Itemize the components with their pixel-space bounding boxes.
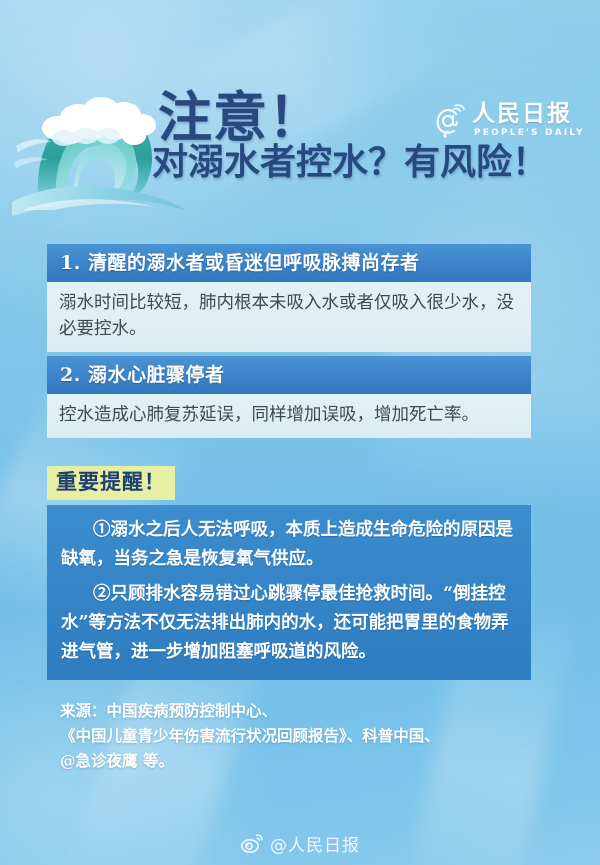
source-line-2: 《中国儿童青少年伤害流行状况回顾报告》、科普中国、 xyxy=(60,723,560,748)
page-title: 注意！ xyxy=(158,90,458,144)
important-reminder-label: 重要提醒！ xyxy=(47,466,175,500)
at-signal-icon xyxy=(432,104,466,138)
source-line-1: 来源：中国疾病预防控制中心、 xyxy=(60,698,560,723)
logo-name: 人民日报 xyxy=(472,100,572,128)
section-1-heading: 1. 清醒的溺水者或昏迷但呼吸脉搏尚存者 xyxy=(47,244,531,282)
source-attribution: 来源：中国疾病预防控制中心、 《中国儿童青少年伤害流行状况回顾报告》、科普中国、… xyxy=(60,698,560,773)
title-block: 注意！ xyxy=(158,90,458,144)
logo-english: PEOPLE'S DAILY xyxy=(474,128,585,138)
peoples-daily-logo: 人民日报 PEOPLE'S DAILY xyxy=(432,100,582,146)
content-section-2: 2. 溺水心脏骤停者 控水造成心肺复苏延误，同样增加误吸，增加死亡率。 xyxy=(47,356,531,438)
reminder-item-1: ①溺水之后人无法呼吸，本质上造成生命危险的原因是缺氧，当务之急是恢复氧气供应。 xyxy=(61,516,517,574)
footer-handle: @人民日报 xyxy=(270,831,360,856)
reminder-item-2: ②只顾排水容易错过心跳骤停最佳抢救时间。“倒挂控水”等方法不仅无法排出肺内的水，… xyxy=(61,580,517,667)
important-reminder-box: ①溺水之后人无法呼吸，本质上造成生命危险的原因是缺氧，当务之急是恢复氧气供应。 … xyxy=(47,505,531,680)
section-2-heading: 2. 溺水心脏骤停者 xyxy=(47,356,531,394)
content-section-1: 1. 清醒的溺水者或昏迷但呼吸脉搏尚存者 溺水时间比较短，肺内根本未吸入水或者仅… xyxy=(47,244,531,352)
poster-root: 注意！ 对溺水者控水？有风险！ 人民日报 PEOPLE'S DAILY 1. xyxy=(0,0,600,865)
page-subtitle: 对溺水者控水？有风险！ xyxy=(152,144,548,180)
poster-header: 注意！ 对溺水者控水？有风险！ 人民日报 PEOPLE'S DAILY xyxy=(0,78,600,228)
footer-watermark: @人民日报 xyxy=(0,826,600,860)
source-line-3: @急诊夜鹰 等。 xyxy=(60,748,560,773)
section-2-body: 控水造成心肺复苏延误，同样增加误吸，增加死亡率。 xyxy=(47,394,531,438)
section-1-body: 溺水时间比较短，肺内根本未吸入水或者仅吸入很少水，没必要控水。 xyxy=(47,282,531,352)
weibo-icon xyxy=(240,831,264,855)
